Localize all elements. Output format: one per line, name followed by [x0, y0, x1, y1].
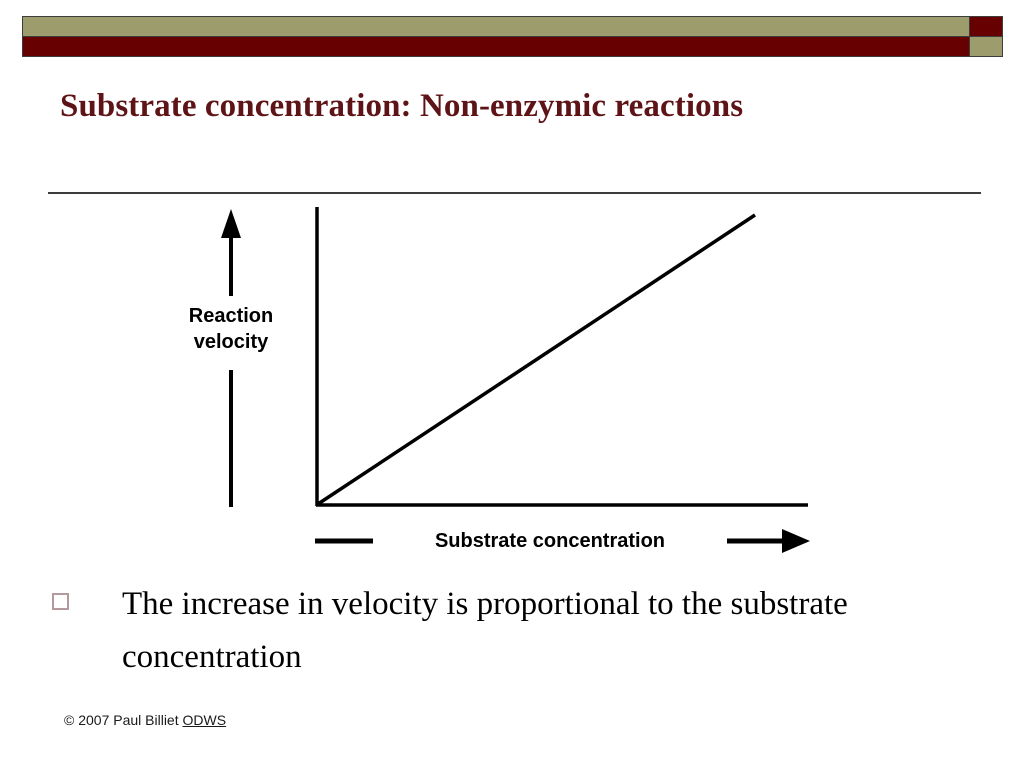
- hollow-square-bullet-icon: [52, 593, 69, 610]
- footer-copyright: © 2007 Paul Billiet ODWS: [64, 712, 226, 728]
- banner-cell-top-left: [22, 16, 970, 37]
- copyright-text: © 2007 Paul Billiet: [64, 712, 183, 728]
- chart-x-axis-label: Substrate concentration: [390, 528, 710, 554]
- banner-cell-top-right: [969, 16, 1003, 37]
- bullet-list-item: The increase in velocity is proportional…: [52, 578, 912, 684]
- banner-cell-bottom-right: [969, 36, 1003, 57]
- slide-canvas: Substrate concentration: Non-enzymic rea…: [0, 0, 1024, 768]
- decorative-banner: [22, 16, 1003, 57]
- y-axis-arrow-head: [221, 209, 241, 238]
- x-axis-arrow-head: [782, 529, 810, 553]
- title-divider: [48, 192, 981, 194]
- banner-cell-bottom-left: [22, 36, 970, 57]
- bullet-item-text: The increase in velocity is proportional…: [122, 578, 882, 684]
- chart-y-axis-label: Reaction velocity: [152, 303, 310, 355]
- slide-title: Substrate concentration: Non-enzymic rea…: [60, 86, 960, 126]
- odws-link[interactable]: ODWS: [183, 712, 227, 728]
- chart-data-line-linear: [318, 215, 755, 504]
